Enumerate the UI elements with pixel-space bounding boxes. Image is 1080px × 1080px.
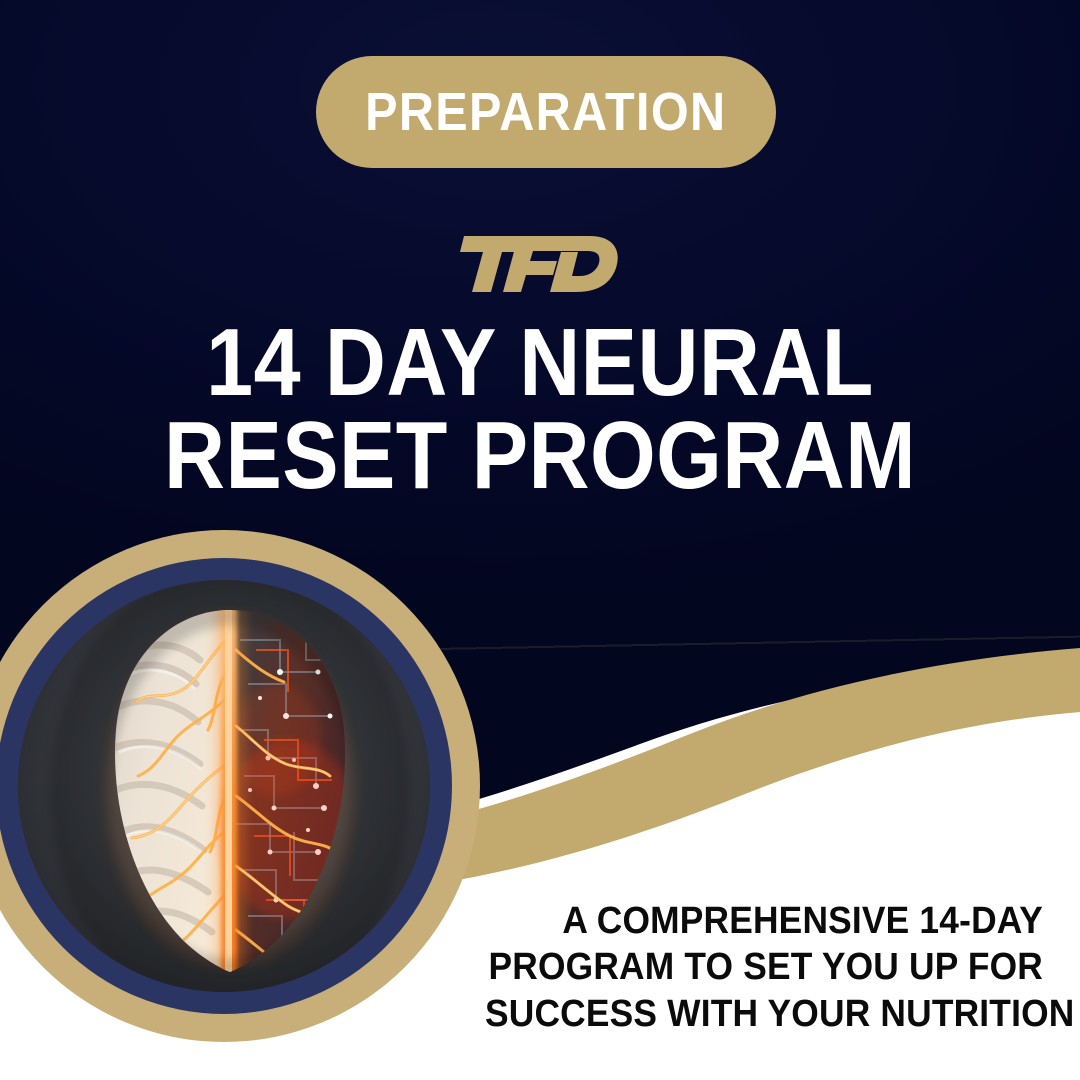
brain-circuit-image <box>18 580 430 992</box>
brain-emblem-navy-ring <box>0 558 452 1014</box>
tfd-logo[interactable] <box>0 228 1080 300</box>
page-title-line-2: RESET PROGRAM <box>65 409 1015 502</box>
subtitle-line-3: SUCCESS WITH YOUR NUTRITION <box>485 991 1043 1037</box>
brain-emblem <box>0 530 480 1042</box>
preparation-badge[interactable]: PREPARATION <box>316 56 776 168</box>
subtitle-line-2: PROGRAM TO SET YOU UP FOR <box>485 944 1043 990</box>
subtitle-line-1: A COMPREHENSIVE 14-DAY <box>485 898 1043 944</box>
brain-illustration-icon <box>18 580 430 992</box>
page-title-line-1: 14 DAY NEURAL <box>65 316 1015 409</box>
page-title: 14 DAY NEURAL RESET PROGRAM <box>0 316 1080 502</box>
subtitle-text: A COMPREHENSIVE 14-DAY PROGRAM TO SET YO… <box>443 898 1043 1037</box>
poster-canvas: PREPARATION 14 DAY NEURAL RESET PROGRAM <box>0 0 1080 1080</box>
preparation-badge-label: PREPARATION <box>365 81 726 143</box>
tfd-wordmark-icon <box>460 230 620 298</box>
